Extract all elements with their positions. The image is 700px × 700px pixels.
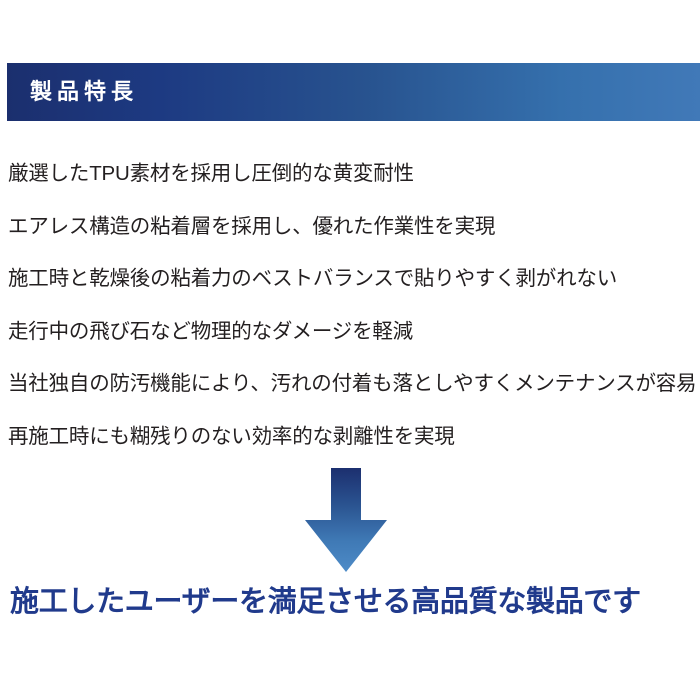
feature-list: 厳選したTPU素材を採用し圧倒的な黄変耐性 エアレス構造の粘着層を採用し、優れた… — [8, 148, 698, 464]
feature-item-4: 走行中の飛び石など物理的なダメージを軽減 — [8, 306, 698, 359]
product-features-page: 製品特長 厳選したTPU素材を採用し圧倒的な黄変耐性 エアレス構造の粘着層を採用… — [0, 0, 700, 700]
arrow-down-icon — [305, 468, 387, 572]
feature-item-2: エアレス構造の粘着層を採用し、優れた作業性を実現 — [8, 201, 698, 254]
feature-item-3: 施工時と乾燥後の粘着力のベストバランスで貼りやすく剥がれない — [8, 253, 698, 306]
feature-item-5: 当社独自の防汚機能により、汚れの付着も落としやすくメンテナンスが容易 — [8, 358, 698, 411]
feature-item-1: 厳選したTPU素材を採用し圧倒的な黄変耐性 — [8, 148, 698, 201]
section-header-bar: 製品特長 — [7, 63, 700, 121]
feature-item-6: 再施工時にも糊残りのない効率的な剥離性を実現 — [8, 411, 698, 464]
page-title: 製品特長 — [30, 81, 138, 103]
conclusion-headline: 施工したユーザーを満足させる高品質な製品です — [10, 582, 700, 622]
